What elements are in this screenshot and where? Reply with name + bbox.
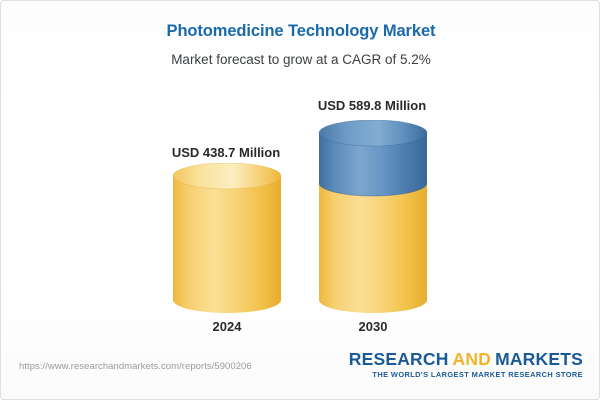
logo-word-research: RESEARCH — [349, 349, 449, 369]
cylinder-2030[interactable] — [317, 120, 429, 315]
bar-value-label-2030: USD 589.8 Million — [272, 98, 472, 113]
logo-wordmark: RESEARCHANDMARKETS — [349, 350, 583, 368]
research-and-markets-logo[interactable]: RESEARCHANDMARKETS THE WORLD'S LARGEST M… — [349, 350, 583, 379]
bar-value-label-2024: USD 438.7 Million — [126, 145, 326, 160]
chart-card: Photomedicine Technology Market Market f… — [0, 0, 600, 400]
logo-tagline: THE WORLD'S LARGEST MARKET RESEARCH STOR… — [349, 370, 583, 379]
report-url[interactable]: https://www.researchandmarkets.com/repor… — [19, 361, 252, 372]
bar-category-label-2030: 2030 — [273, 319, 473, 334]
chart-plot-area: USD 438.7 Million — [1, 1, 600, 349]
chart-footer: https://www.researchandmarkets.com/repor… — [1, 347, 600, 399]
logo-word-markets: MARKETS — [495, 349, 583, 369]
cylinder-2024[interactable] — [171, 163, 283, 315]
logo-word-and: AND — [453, 349, 492, 369]
